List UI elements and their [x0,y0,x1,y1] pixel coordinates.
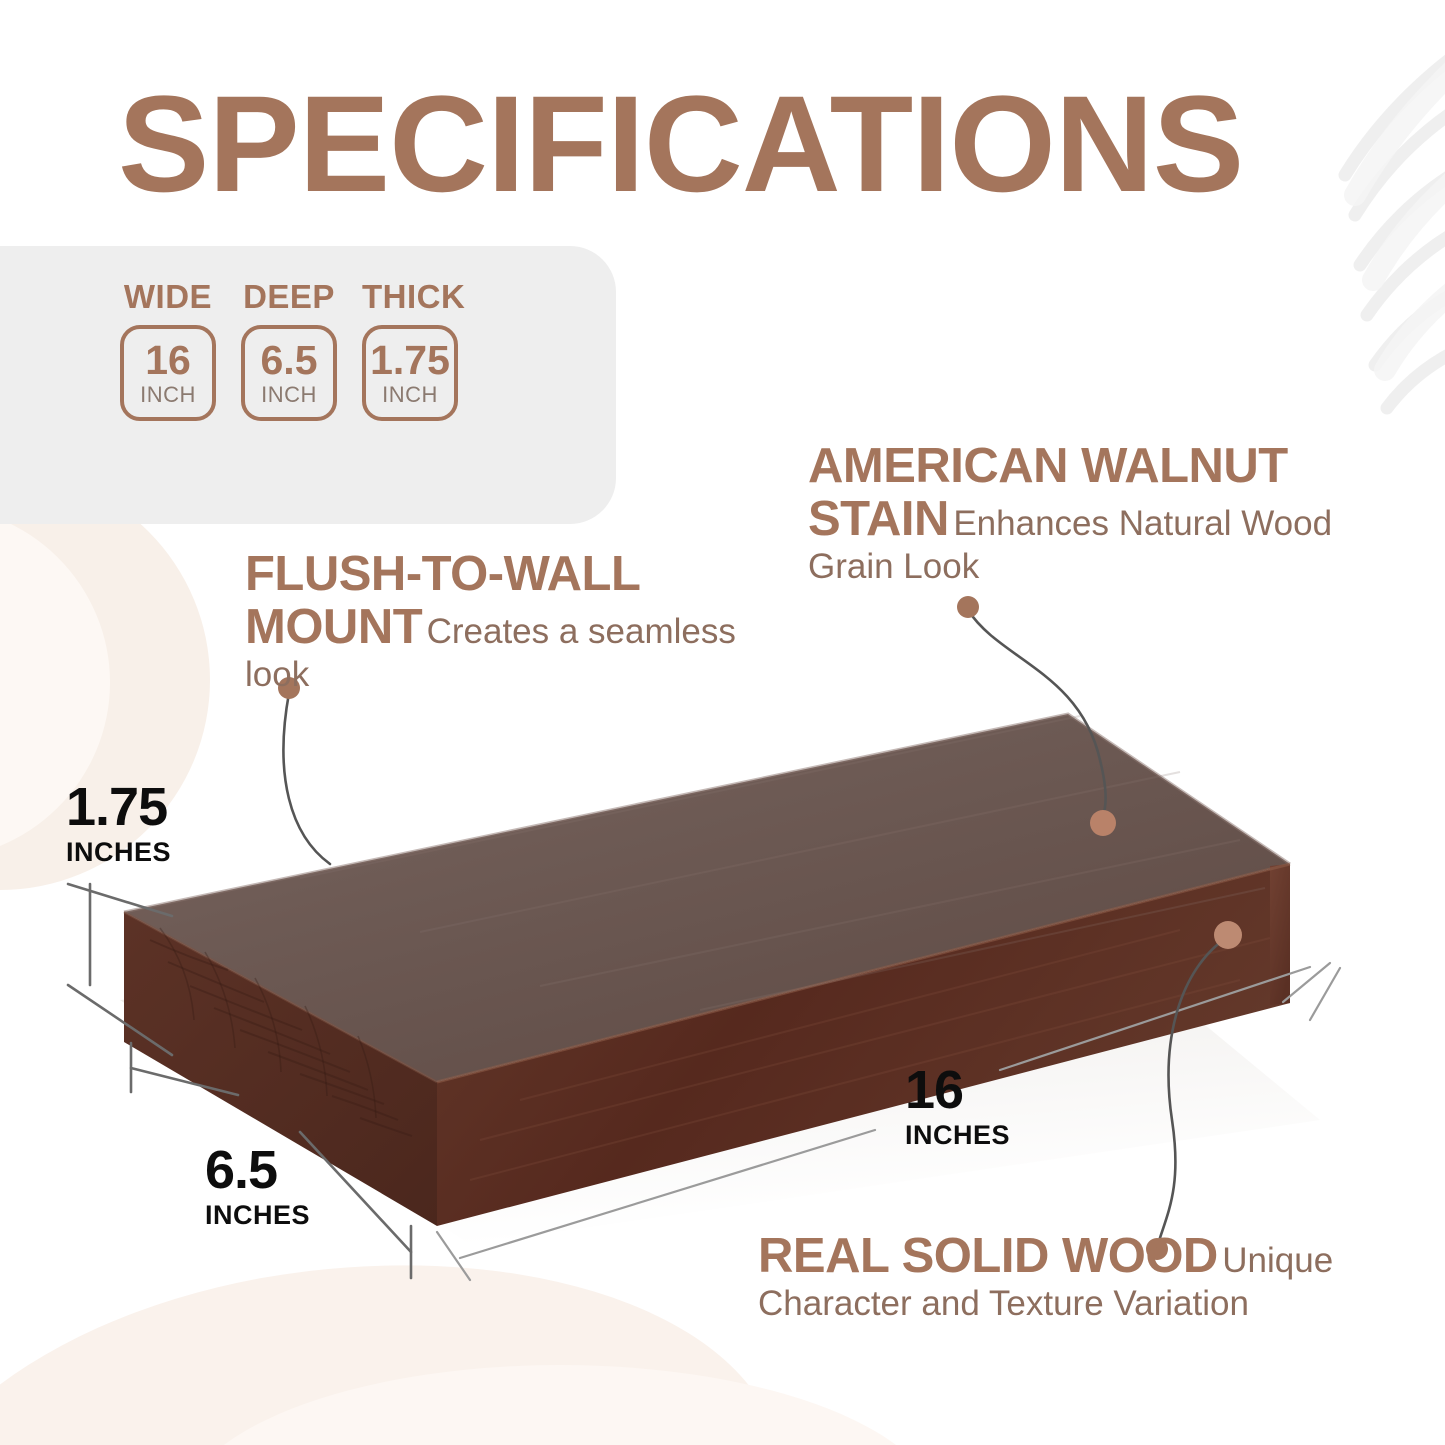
dimension-thickness-unit: INCHES [66,839,171,866]
callout-dot-stain-end [1090,810,1116,836]
dimension-depth-unit: INCHES [205,1202,310,1229]
callout-american-walnut-stain: AMERICAN WALNUT STAIN Enhances Natural W… [808,440,1408,589]
dimension-depth-value: 6.5 [205,1143,310,1197]
callout-real-solid-wood: REAL SOLID WOOD Unique Character and Tex… [758,1230,1378,1326]
callout-dot-wood-start [1214,921,1242,949]
dimension-thickness-value: 1.75 [66,780,171,834]
infographic-canvas: SPECIFICATIONS WIDE 16 INCH DEEP 6.5 INC… [0,0,1445,1445]
callout-dot-stain-start [957,596,979,618]
dimension-label-thickness: 1.75 INCHES [66,780,171,866]
dimension-label-width: 16 INCHES [905,1063,1010,1149]
callout-flush-to-wall-mount: FLUSH-TO-WALL MOUNT Creates a seamless l… [245,548,745,697]
dimension-width-value: 16 [905,1063,1010,1117]
dimension-label-depth: 6.5 INCHES [205,1143,310,1229]
dimension-width-unit: INCHES [905,1122,1010,1149]
callout-wood-heading: REAL SOLID WOOD [758,1229,1218,1283]
